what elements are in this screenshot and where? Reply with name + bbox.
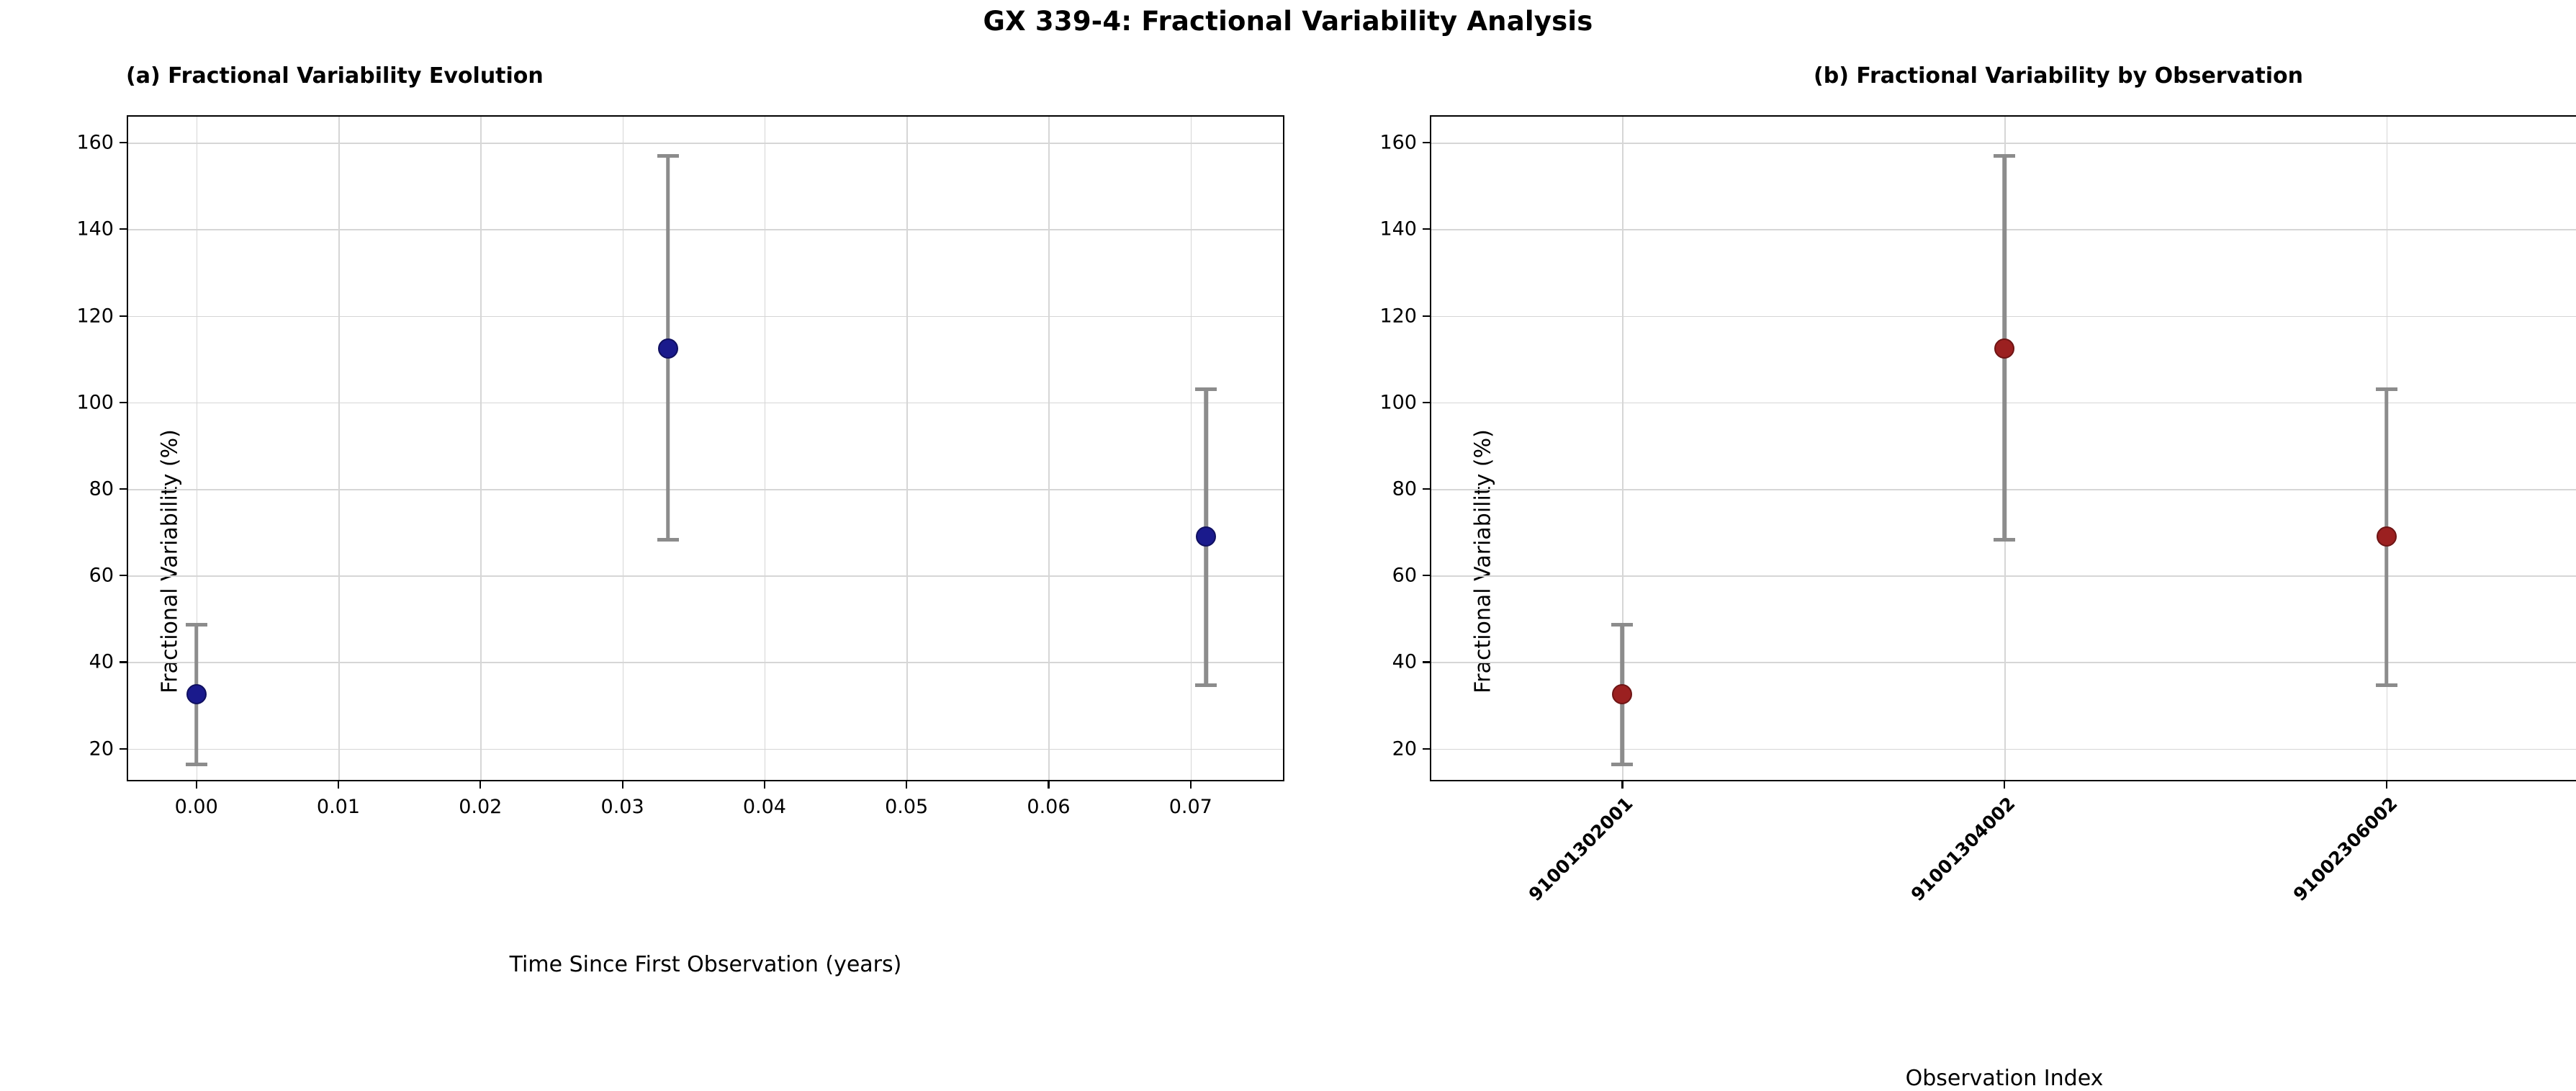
x-tick-label: 0.03 bbox=[601, 796, 644, 818]
gridline-horizontal bbox=[128, 316, 1283, 318]
x-tick-mark bbox=[2004, 780, 2005, 789]
y-tick-label: 140 bbox=[76, 218, 114, 241]
y-tick-mark bbox=[120, 748, 128, 750]
y-tick-label: 120 bbox=[76, 305, 114, 327]
gridline-horizontal bbox=[1431, 575, 2576, 577]
gridline-horizontal bbox=[128, 662, 1283, 663]
x-tick-mark bbox=[1621, 780, 1623, 789]
y-tick-mark bbox=[120, 661, 128, 663]
gridline-vertical bbox=[338, 117, 340, 780]
error-bar-cap bbox=[186, 623, 207, 627]
x-tick-mark bbox=[196, 780, 197, 789]
x-tick-label: 0.02 bbox=[459, 796, 502, 818]
y-tick-mark bbox=[1423, 315, 1431, 317]
y-axis-label-a: Fractional Variability (%) bbox=[158, 407, 183, 717]
panel-fractional-variability-by-observation: (b) Fractional Variability by Observatio… bbox=[1288, 0, 2576, 992]
x-tick-mark bbox=[622, 780, 623, 789]
x-tick-mark bbox=[906, 780, 907, 789]
y-tick-mark bbox=[1423, 228, 1431, 230]
y-tick-label: 60 bbox=[1392, 565, 1417, 587]
x-tick-mark bbox=[479, 780, 481, 789]
data-point-marker[interactable] bbox=[2377, 526, 2397, 547]
gridline-vertical bbox=[906, 117, 908, 780]
y-tick-mark bbox=[1423, 402, 1431, 403]
x-axis-label-a: Time Since First Observation (years) bbox=[510, 952, 902, 977]
x-tick-label: 91001304002 bbox=[1907, 793, 2019, 905]
gridline-vertical bbox=[765, 117, 766, 780]
y-tick-label: 100 bbox=[76, 391, 114, 413]
y-axis-label-b: Fractional Variability (%) bbox=[1471, 407, 1496, 717]
error-bar-cap bbox=[657, 538, 679, 542]
y-tick-label: 160 bbox=[76, 132, 114, 154]
x-axis-label-b: Observation Index bbox=[1906, 1066, 2104, 1091]
plot-area-b: Fractional Variability (%) Observation I… bbox=[1430, 115, 2576, 781]
y-tick-mark bbox=[120, 402, 128, 403]
x-tick-label: 0.07 bbox=[1169, 796, 1212, 818]
x-tick-label: 0.00 bbox=[175, 796, 218, 818]
error-bar-cap bbox=[2376, 683, 2397, 687]
panel-b-title: (b) Fractional Variability by Observatio… bbox=[1814, 63, 2303, 89]
y-tick-mark bbox=[1423, 142, 1431, 143]
x-tick-mark bbox=[338, 780, 339, 789]
y-tick-mark bbox=[120, 228, 128, 230]
gridline-horizontal bbox=[128, 749, 1283, 750]
gridline-horizontal bbox=[1431, 143, 2576, 144]
x-tick-label: 91002306002 bbox=[2289, 793, 2401, 905]
error-bar-cap bbox=[1611, 763, 1633, 766]
y-tick-mark bbox=[120, 142, 128, 143]
y-tick-mark bbox=[120, 575, 128, 576]
error-bar-cap bbox=[1994, 154, 2015, 158]
y-tick-label: 40 bbox=[1392, 651, 1417, 673]
y-tick-label: 160 bbox=[1379, 132, 1417, 154]
error-bar-cap bbox=[186, 763, 207, 766]
y-tick-mark bbox=[1423, 661, 1431, 663]
plot-area-a: Fractional Variability (%) Time Since Fi… bbox=[127, 115, 1284, 781]
y-tick-label: 140 bbox=[1379, 218, 1417, 241]
error-bar-cap bbox=[1611, 623, 1633, 627]
gridline-horizontal bbox=[1431, 749, 2576, 750]
data-point-marker[interactable] bbox=[1196, 526, 1216, 547]
gridline-vertical bbox=[1191, 117, 1192, 780]
y-tick-mark bbox=[1423, 488, 1431, 490]
x-tick-mark bbox=[1190, 780, 1192, 789]
y-tick-mark bbox=[120, 488, 128, 490]
gridline-horizontal bbox=[128, 403, 1283, 404]
y-tick-label: 60 bbox=[89, 565, 114, 587]
gridline-vertical bbox=[480, 117, 482, 780]
x-tick-label: 0.06 bbox=[1027, 796, 1070, 818]
x-tick-label: 91001302001 bbox=[1525, 793, 1637, 905]
panel-a-title: (a) Fractional Variability Evolution bbox=[126, 63, 544, 89]
error-bar-cap bbox=[2376, 387, 2397, 391]
y-tick-label: 80 bbox=[89, 478, 114, 500]
panel-fractional-variability-evolution: (a) Fractional Variability Evolution Fra… bbox=[0, 0, 1288, 992]
x-tick-mark bbox=[764, 780, 765, 789]
gridline-horizontal bbox=[128, 229, 1283, 230]
x-tick-label: 0.05 bbox=[885, 796, 928, 818]
y-tick-label: 20 bbox=[1392, 737, 1417, 760]
gridline-horizontal bbox=[128, 489, 1283, 490]
gridline-vertical bbox=[623, 117, 624, 780]
y-tick-mark bbox=[1423, 575, 1431, 576]
error-bar-cap bbox=[1195, 387, 1217, 391]
error-bar-cap bbox=[657, 154, 679, 158]
gridline-vertical bbox=[1048, 117, 1050, 780]
y-tick-label: 80 bbox=[1392, 478, 1417, 500]
y-tick-mark bbox=[120, 315, 128, 317]
x-tick-mark bbox=[2386, 780, 2387, 789]
data-point-marker[interactable] bbox=[658, 338, 678, 359]
data-point-marker[interactable] bbox=[186, 684, 207, 704]
y-tick-label: 100 bbox=[1379, 391, 1417, 413]
y-tick-mark bbox=[1423, 748, 1431, 750]
y-tick-label: 20 bbox=[89, 737, 114, 760]
gridline-horizontal bbox=[128, 143, 1283, 144]
data-point-marker[interactable] bbox=[1612, 684, 1632, 704]
x-tick-mark bbox=[1048, 780, 1049, 789]
y-tick-label: 40 bbox=[89, 651, 114, 673]
error-bar-cap bbox=[1994, 538, 2015, 542]
y-tick-label: 120 bbox=[1379, 305, 1417, 327]
x-tick-label: 0.04 bbox=[743, 796, 786, 818]
error-bar-cap bbox=[1195, 683, 1217, 687]
gridline-horizontal bbox=[1431, 662, 2576, 663]
gridline-horizontal bbox=[128, 575, 1283, 577]
x-tick-label: 0.01 bbox=[317, 796, 360, 818]
data-point-marker[interactable] bbox=[1994, 338, 2014, 359]
